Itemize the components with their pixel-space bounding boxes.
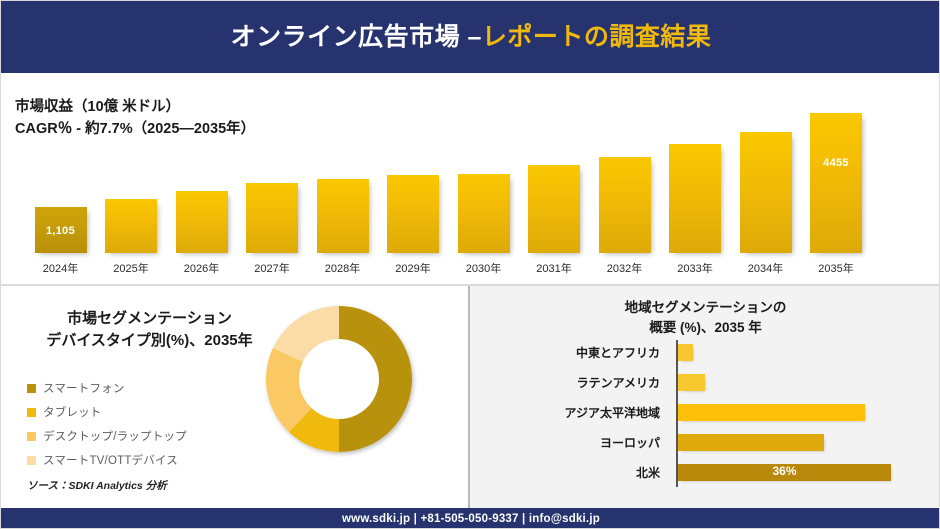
region-bar — [678, 434, 824, 451]
region-bar-label: ヨーロッパ — [470, 434, 670, 451]
revenue-bar-label: 2033年 — [677, 260, 712, 276]
page-title-main: オンライン広告市場 – — [231, 23, 482, 51]
revenue-bar — [317, 179, 369, 253]
infographic-root: オンライン広告市場 –レポートの調査結果 市場収益（10億 米ドル） CAGR％… — [0, 0, 940, 529]
legend-swatch-icon — [27, 432, 36, 441]
device-legend-label: スマートTV/OTTデバイス — [43, 452, 178, 468]
legend-swatch-icon — [27, 408, 36, 417]
footer-contact-text: www.sdki.jp | +81-505-050-9337 | info@sd… — [342, 513, 600, 525]
device-legend-item: タブレット — [27, 400, 187, 424]
revenue-bar-wrapper — [734, 103, 797, 253]
device-panel-title-line-2: デバイスタイプ別(%)、2035年 — [1, 330, 298, 352]
region-panel-title: 地域セグメンテーションの 概要 (%)、2035 年 — [470, 298, 940, 337]
legend-swatch-icon — [27, 384, 36, 393]
page-title-accent: レポートの調査結果 — [482, 23, 712, 51]
device-panel-title-line-1: 市場セグメンテーション — [1, 308, 298, 330]
revenue-bar-column: 2032年 — [593, 103, 656, 276]
region-bar-label: ラテンアメリカ — [470, 374, 670, 391]
revenue-bar-wrapper — [382, 103, 445, 253]
revenue-bar-column: 44552035年 — [805, 103, 868, 276]
revenue-bar-wrapper — [170, 103, 233, 253]
region-bar-label: 中東とアフリカ — [470, 344, 670, 361]
region-bar-value: 36% — [678, 464, 891, 478]
region-bar-row: アジア太平洋地域 — [470, 402, 940, 422]
revenue-bar-wrapper: 1,105 — [29, 103, 92, 253]
revenue-bar-value: 1,105 — [35, 225, 87, 237]
revenue-bar-label: 2028年 — [325, 260, 360, 276]
revenue-bar — [740, 132, 792, 253]
revenue-bar — [246, 183, 298, 253]
revenue-bar — [387, 175, 439, 253]
region-bar-wrapper — [678, 432, 824, 452]
revenue-bar — [458, 174, 510, 253]
revenue-bar-label: 2026年 — [184, 260, 219, 276]
region-bar — [678, 344, 693, 361]
revenue-bar: 1,105 — [35, 207, 87, 253]
revenue-bar-wrapper — [664, 103, 727, 253]
revenue-bar-column: 2030年 — [452, 103, 515, 276]
region-bar-wrapper — [678, 402, 865, 422]
region-panel-title-line-2: 概要 (%)、2035 年 — [470, 318, 940, 338]
revenue-bar-column: 2025年 — [100, 103, 163, 276]
footer-bar: www.sdki.jp | +81-505-050-9337 | info@sd… — [1, 508, 940, 529]
legend-swatch-icon — [27, 456, 36, 465]
revenue-bar-column: 2027年 — [241, 103, 304, 276]
device-segmentation-panel: 市場セグメンテーション デバイスタイプ別(%)、2035年 スマートフォンタブレ… — [1, 286, 468, 508]
revenue-bar — [176, 191, 228, 253]
region-bar-wrapper — [678, 342, 693, 362]
revenue-bar-wrapper: 4455 — [805, 103, 868, 253]
region-bar-chart: 中東とアフリカラテンアメリカアジア太平洋地域ヨーロッパ北米36% — [470, 338, 940, 498]
revenue-bar: 4455 — [810, 113, 862, 253]
region-bar-row: 北米36% — [470, 462, 940, 482]
revenue-bar-label: 2035年 — [818, 260, 853, 276]
revenue-bars-area: 1,1052024年2025年2026年2027年2028年2029年2030年… — [1, 73, 940, 284]
revenue-bar-label: 2024年 — [43, 260, 78, 276]
source-note: ソース：SDKI Analytics 分析 — [27, 478, 167, 493]
donut-center-value: 50% — [350, 370, 375, 384]
region-bar-wrapper — [678, 372, 705, 392]
revenue-bar-label: 2031年 — [536, 260, 571, 276]
revenue-bar-label: 2029年 — [395, 260, 430, 276]
revenue-bar-column: 2029年 — [382, 103, 445, 276]
header-banner: オンライン広告市場 –レポートの調査結果 — [1, 1, 940, 73]
revenue-bar-wrapper — [311, 103, 374, 253]
revenue-bar-label: 2030年 — [466, 260, 501, 276]
revenue-bar-column: 1,1052024年 — [29, 103, 92, 276]
revenue-bar-label: 2025年 — [113, 260, 148, 276]
revenue-bar-label: 2034年 — [748, 260, 783, 276]
revenue-bar — [669, 144, 721, 253]
revenue-bar-label: 2032年 — [607, 260, 642, 276]
revenue-bar-wrapper — [523, 103, 586, 253]
revenue-bar-wrapper — [452, 103, 515, 253]
revenue-bar — [105, 199, 157, 253]
region-bar-row: 中東とアフリカ — [470, 342, 940, 362]
revenue-bar-wrapper — [241, 103, 304, 253]
revenue-bar-column: 2033年 — [664, 103, 727, 276]
device-legend-item: スマートフォン — [27, 376, 187, 400]
device-legend-label: デスクトップ/ラップトップ — [43, 428, 187, 444]
region-segmentation-panel: 地域セグメンテーションの 概要 (%)、2035 年 中東とアフリカラテンアメリ… — [470, 286, 940, 508]
device-legend-label: タブレット — [43, 404, 102, 420]
revenue-bar-column: 2034年 — [734, 103, 797, 276]
device-legend-label: スマートフォン — [43, 380, 125, 396]
device-legend-item: スマートTV/OTTデバイス — [27, 448, 187, 472]
region-bar-wrapper: 36% — [678, 462, 891, 482]
device-legend: スマートフォンタブレットデスクトップ/ラップトップスマートTV/OTTデバイス — [27, 376, 187, 472]
region-bar — [678, 374, 705, 391]
device-donut-chart: 50% — [264, 304, 414, 454]
revenue-bar-column: 2026年 — [170, 103, 233, 276]
revenue-bar-wrapper — [100, 103, 163, 253]
revenue-bar-column: 2031年 — [523, 103, 586, 276]
region-bar — [678, 404, 865, 421]
region-bar-row: ヨーロッパ — [470, 432, 940, 452]
region-bar-label: アジア太平洋地域 — [470, 404, 670, 421]
revenue-bar-wrapper — [593, 103, 656, 253]
revenue-bar — [599, 157, 651, 253]
revenue-bar-column: 2028年 — [311, 103, 374, 276]
revenue-bar-label: 2027年 — [254, 260, 289, 276]
region-bar-label: 北米 — [470, 464, 670, 481]
page-title: オンライン広告市場 –レポートの調査結果 — [231, 25, 712, 50]
region-bar: 36% — [678, 464, 891, 481]
region-bar-row: ラテンアメリカ — [470, 372, 940, 392]
revenue-chart-section: 市場収益（10億 米ドル） CAGR％ - 約7.7%（2025―2035年） … — [1, 73, 940, 284]
revenue-bar — [528, 165, 580, 253]
revenue-bar-value: 4455 — [810, 157, 862, 169]
device-legend-item: デスクトップ/ラップトップ — [27, 424, 187, 448]
region-panel-title-line-1: 地域セグメンテーションの — [470, 298, 940, 318]
